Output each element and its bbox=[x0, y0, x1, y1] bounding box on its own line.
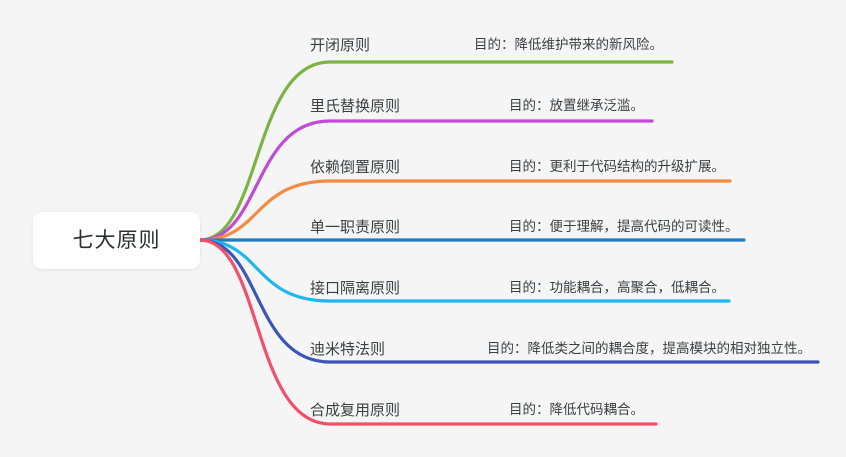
branch-node[interactable]: 依赖倒置原则目的：更利于代码结构的升级扩展。 bbox=[0, 153, 846, 179]
branch-title[interactable]: 接口隔离原则 bbox=[310, 280, 400, 298]
branch-description[interactable]: 目的：降低维护带来的新风险。 bbox=[474, 36, 663, 54]
branch-title[interactable]: 迪米特法则 bbox=[310, 341, 385, 359]
branch-description[interactable]: 目的：更利于代码结构的升级扩展。 bbox=[509, 158, 725, 176]
branch-description[interactable]: 目的：便于理解，提高代码的可读性。 bbox=[509, 218, 739, 236]
branch-title[interactable]: 里氏替换原则 bbox=[310, 98, 400, 116]
branch-title[interactable]: 合成复用原则 bbox=[310, 402, 400, 420]
branch-node[interactable]: 里氏替换原则目的：放置继承泛滥。 bbox=[0, 92, 846, 118]
branch-description[interactable]: 目的：降低类之间的耦合度，提高模块的相对独立性。 bbox=[487, 340, 811, 358]
branch-title[interactable]: 单一职责原则 bbox=[310, 219, 400, 237]
branch-title[interactable]: 依赖倒置原则 bbox=[310, 159, 400, 177]
branch-node[interactable]: 单一职责原则目的：便于理解，提高代码的可读性。 bbox=[0, 213, 846, 239]
branch-description[interactable]: 目的：放置继承泛滥。 bbox=[509, 97, 644, 115]
branch-node[interactable]: 接口隔离原则目的：功能耦合，高聚合，低耦合。 bbox=[0, 274, 846, 300]
branch-description[interactable]: 目的：功能耦合，高聚合，低耦合。 bbox=[509, 279, 725, 297]
mindmap-canvas: 七大原则 开闭原则目的：降低维护带来的新风险。里氏替换原则目的：放置继承泛滥。依… bbox=[0, 0, 846, 457]
branch-description[interactable]: 目的：降低代码耦合。 bbox=[509, 401, 644, 419]
branch-node[interactable]: 开闭原则目的：降低维护带来的新风险。 bbox=[0, 31, 846, 57]
branch-node[interactable]: 合成复用原则目的：降低代码耦合。 bbox=[0, 396, 846, 422]
branch-title[interactable]: 开闭原则 bbox=[310, 37, 370, 55]
branch-node[interactable]: 迪米特法则目的：降低类之间的耦合度，提高模块的相对独立性。 bbox=[0, 335, 846, 361]
